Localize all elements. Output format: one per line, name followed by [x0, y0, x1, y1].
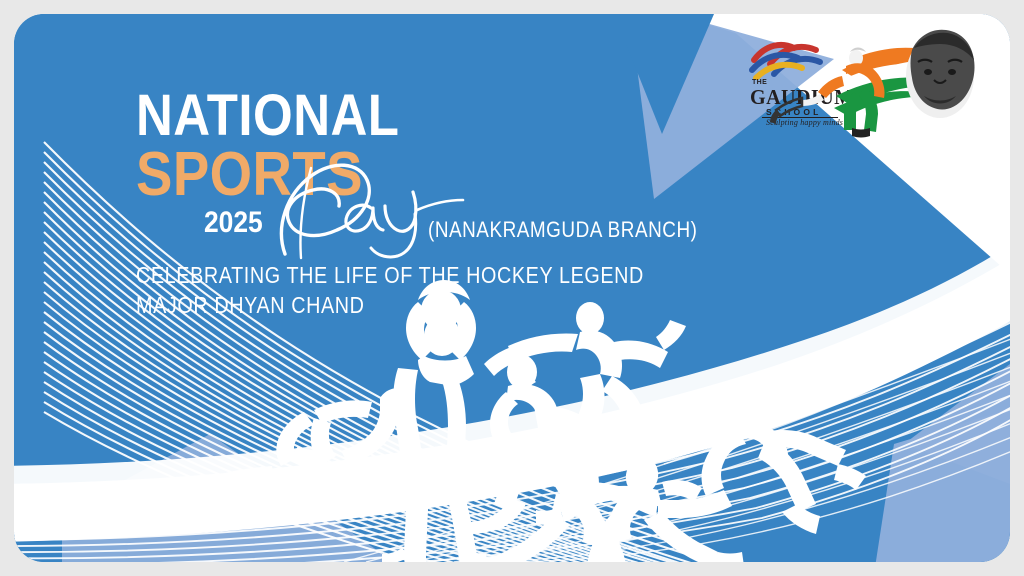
dhyan-chand-portrait	[906, 30, 975, 118]
poster-root: NATIONAL SPORTS 2025	[0, 0, 1024, 576]
dhyan-chand-graphic	[14, 14, 1010, 562]
poster-card: NATIONAL SPORTS 2025	[14, 14, 1010, 562]
